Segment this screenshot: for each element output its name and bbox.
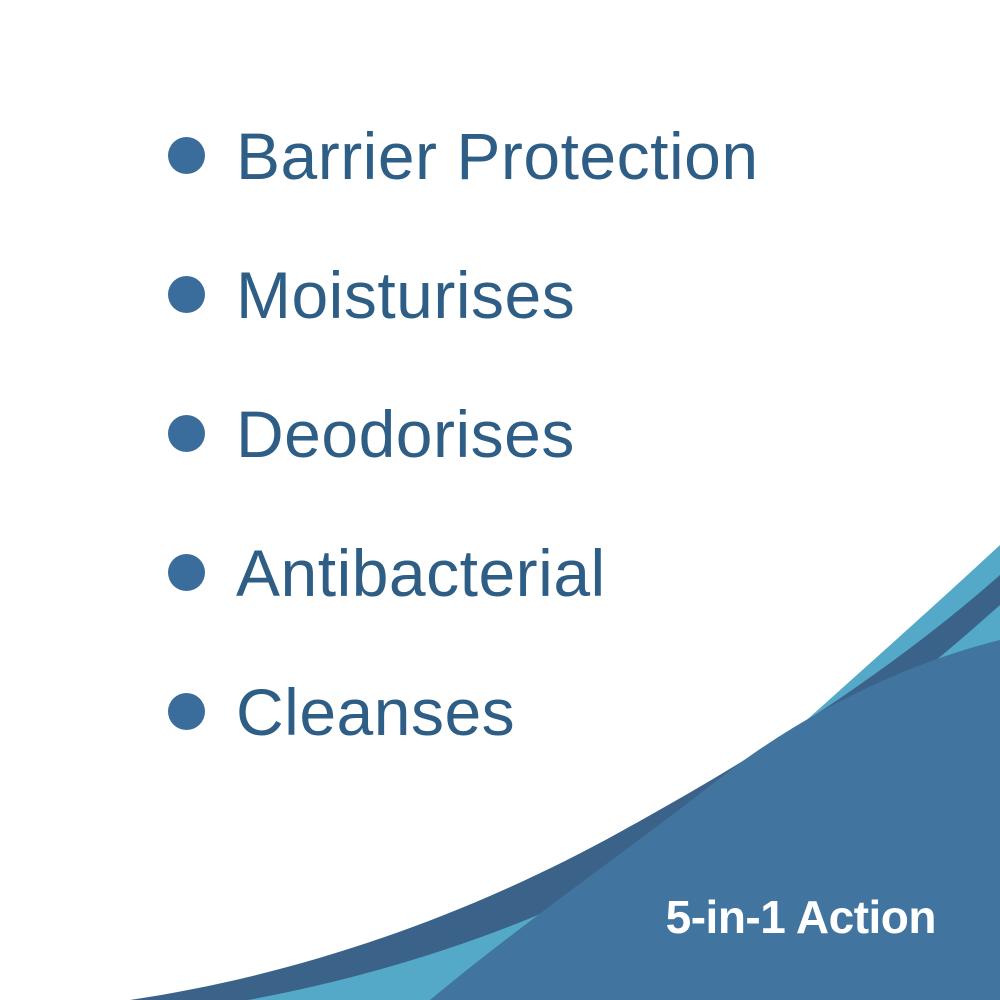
benefit-label: Moisturises [236,262,575,328]
benefit-label: Deodorises [236,401,575,467]
benefit-label: Cleanses [236,679,515,745]
list-item: Antibacterial [168,503,968,642]
list-item: Cleanses [168,642,968,781]
benefit-label: Antibacterial [236,540,606,606]
bullet-dot-icon [168,137,205,174]
benefits-list: Barrier Protection Moisturises Deodorise… [168,86,968,781]
bullet-dot-icon [168,693,205,730]
list-item: Moisturises [168,225,968,364]
bullet-dot-icon [168,554,205,591]
bullet-dot-icon [168,276,205,313]
list-item: Deodorises [168,364,968,503]
footer-claim-label: 5-in-1 Action [666,890,936,944]
benefit-label: Barrier Protection [236,123,759,189]
bullet-dot-icon [168,415,205,452]
promo-card: Barrier Protection Moisturises Deodorise… [0,0,1000,1000]
list-item: Barrier Protection [168,86,968,225]
